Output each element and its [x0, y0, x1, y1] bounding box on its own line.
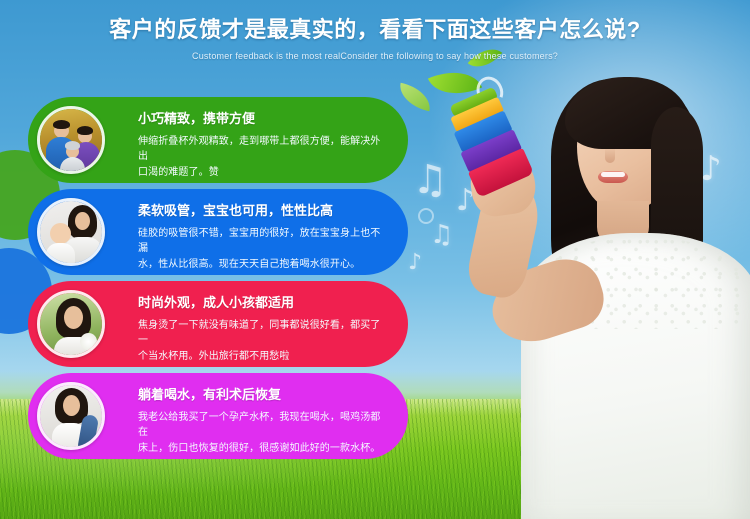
testimonial-card[interactable]: 躺着喝水，有利术后恢复 我老公给我买了一个孕产水杯，我现在喝水，喝鸡汤都在 床上… — [28, 373, 408, 459]
testimonial-list: 小巧精致，携带方便 伸缩折叠杯外观精致，走到哪带上都很方便，能解决外出 口渴的难… — [28, 97, 408, 465]
testimonial-body: 我老公给我买了一个孕产水杯，我现在喝水，喝鸡汤都在 床上，伤口也恢复的很好，很感… — [138, 410, 388, 457]
testimonial-title: 柔软吸管，宝宝也可用，性性比高 — [138, 203, 388, 219]
testimonial-body-line: 伸缩折叠杯外观精致，走到哪带上都很方便，能解决外出 — [138, 134, 388, 165]
model-photo — [455, 55, 750, 519]
avatar-family-hikers — [37, 106, 105, 174]
avatar-mother-and-baby — [37, 198, 105, 266]
testimonial-body-line: 口渴的难题了。赞 — [138, 165, 388, 181]
banner-header: 客户的反馈才是最真实的，看看下面这些客户怎么说? Customer feedba… — [0, 12, 750, 61]
page-subtitle: Customer feedback is the most realConsid… — [0, 51, 750, 61]
teeth — [601, 172, 625, 177]
promo-banner: ♫ ♪ ♫ ♬ ♪ ♪ — [0, 0, 750, 519]
testimonial-card[interactable]: 小巧精致，携带方便 伸缩折叠杯外观精致，走到哪带上都很方便，能解决外出 口渴的难… — [28, 97, 408, 183]
testimonial-body-line: 我老公给我买了一个孕产水杯，我现在喝水，喝鸡汤都在 — [138, 410, 388, 441]
music-note-icon: ♫ — [412, 160, 448, 200]
page-title: 客户的反馈才是最真实的，看看下面这些客户怎么说? — [0, 12, 750, 44]
testimonial-body: 焦身烫了一下就没有味道了，同事都说很好看，都买了一 个当水杯用。外出旅行都不用愁… — [138, 318, 388, 365]
testimonial-body-line: 个当水杯用。外出旅行都不用愁啦 — [138, 349, 388, 365]
testimonial-title: 躺着喝水，有利术后恢复 — [138, 387, 388, 403]
avatar-woman-with-yoga-mat — [37, 382, 105, 450]
nose — [605, 147, 615, 163]
testimonial-title: 时尚外观，成人小孩都适用 — [138, 295, 388, 311]
testimonial-body-line: 床上，伤口也恢复的很好，很感谢如此好的一款水杯。 — [138, 441, 388, 457]
music-note-icon: ♪ — [408, 252, 422, 274]
testimonial-body-line: 硅胶的吸管很不错，宝宝用的很好，放在宝宝身上也不漏 — [138, 226, 388, 257]
bubble-icon — [418, 208, 434, 224]
testimonial-card[interactable]: 柔软吸管，宝宝也可用，性性比高 硅胶的吸管很不错，宝宝用的很好，放在宝宝身上也不… — [28, 189, 408, 275]
testimonial-body: 伸缩折叠杯外观精致，走到哪带上都很方便，能解决外出 口渴的难题了。赞 — [138, 134, 388, 181]
testimonial-body-line: 焦身烫了一下就没有味道了，同事都说很好看，都买了一 — [138, 318, 388, 349]
testimonial-card[interactable]: 时尚外观，成人小孩都适用 焦身烫了一下就没有味道了，同事都说很好看，都买了一 个… — [28, 281, 408, 367]
testimonial-body: 硅胶的吸管很不错，宝宝用的很好，放在宝宝身上也不漏 水，性从比很高。现在天天自己… — [138, 226, 388, 273]
testimonial-body-line: 水，性从比很高。现在天天自己抱着喝水很开心。 — [138, 257, 388, 273]
avatar-girl-with-flower — [37, 290, 105, 358]
testimonial-title: 小巧精致，携带方便 — [138, 111, 388, 127]
music-note-icon: ♫ — [430, 222, 453, 248]
